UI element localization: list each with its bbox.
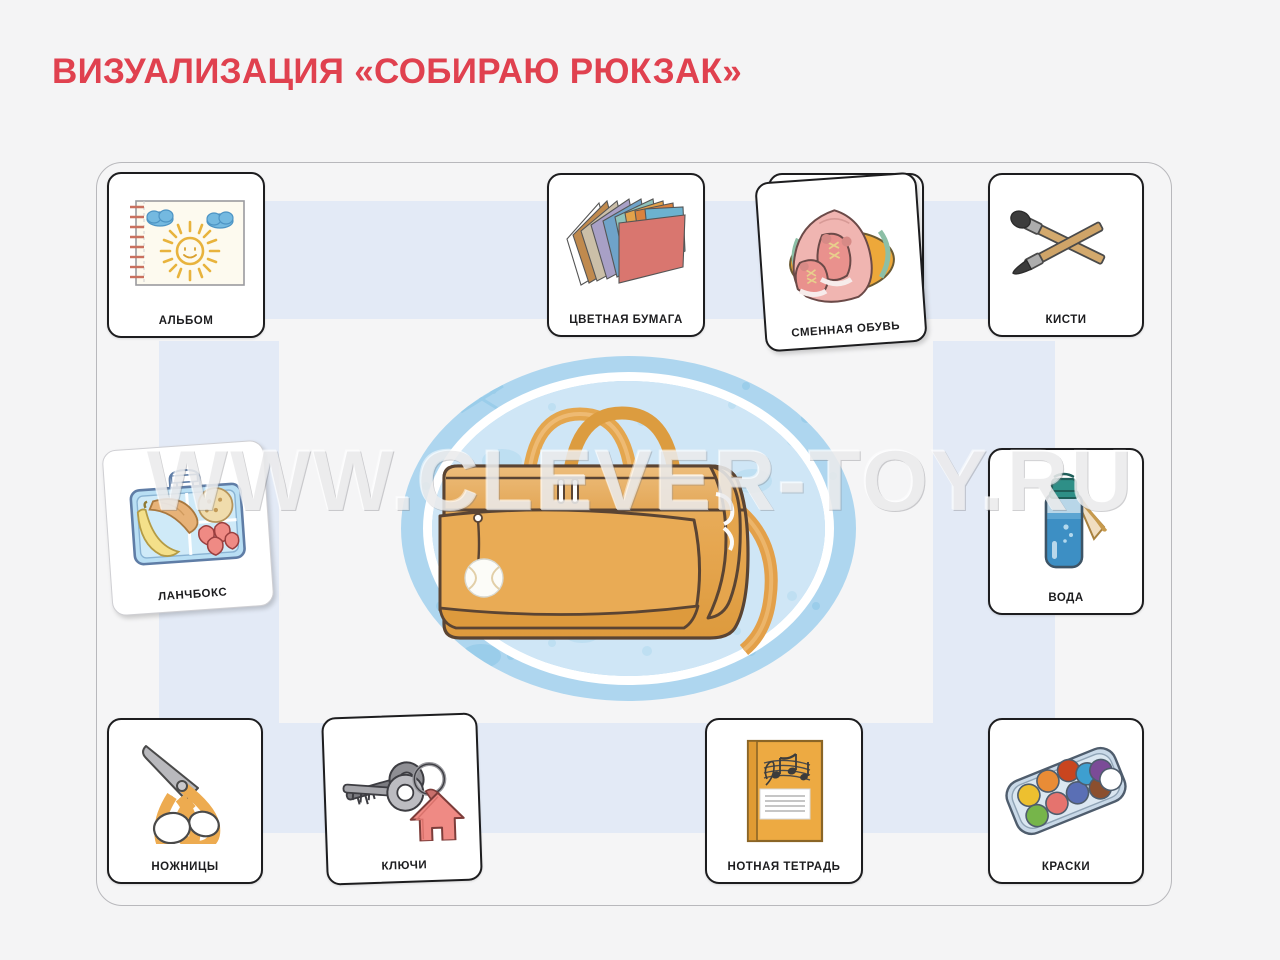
card-keys[interactable]: КЛЮЧИ [321,712,483,885]
card-water-art [990,450,1142,592]
card-album-label: АЛЬБОМ [159,315,214,336]
card-change-shoes[interactable]: СМЕННАЯ ОБУВЬ [754,172,927,353]
card-brushes-label: КИСТИ [1045,314,1086,335]
card-change-shoes-art [756,174,924,330]
sketchbook-sun-icon [122,195,250,295]
sneakers-bag-icon [768,195,913,308]
card-colored-paper[interactable]: ЦВЕТНАЯ БУМАГА [547,173,705,337]
card-album-art [109,174,263,315]
scissors-icon [124,738,246,844]
poster-canvas: ВИЗУАЛИЗАЦИЯ «СОБИРАЮ РЮКЗАК» [0,0,1280,960]
card-water[interactable]: ВОДА [988,448,1144,615]
card-scissors-art [109,720,261,861]
sports-duffel-bag-icon [416,386,836,676]
card-scissors-label: НОЖНИЦЫ [151,861,218,882]
page-title: ВИЗУАЛИЗАЦИЯ «СОБИРАЮ РЮКЗАК» [52,52,742,92]
keys-house-keychain-icon [336,733,468,843]
card-colored-paper-label: ЦВЕТНАЯ БУМАГА [569,314,683,335]
card-music-notebook-label: НОТНАЯ ТЕТРАДЬ [728,861,841,882]
music-notebook-icon [734,735,834,847]
card-lunchbox-label: ЛАНЧБОКС [158,586,228,612]
card-album[interactable]: АЛЬБОМ [107,172,265,338]
paint-brushes-icon [1004,194,1128,296]
colored-paper-icon [559,193,693,297]
card-music-notebook-art [707,720,861,861]
card-paints-art [990,720,1142,861]
card-paints[interactable]: КРАСКИ [988,718,1144,884]
card-lunchbox-art [102,441,272,595]
watercolor-palette-icon [1000,739,1132,843]
card-water-label: ВОДА [1048,592,1083,613]
lunchbox-icon [117,460,258,575]
water-bottle-icon [1008,467,1124,575]
card-brushes[interactable]: КИСТИ [988,173,1144,337]
card-music-notebook[interactable]: НОТНАЯ ТЕТРАДЬ [705,718,863,884]
card-paints-label: КРАСКИ [1042,861,1090,882]
card-scissors[interactable]: НОЖНИЦЫ [107,718,263,884]
card-brushes-art [990,175,1142,314]
card-lunchbox[interactable]: ЛАНЧБОКС [101,440,274,617]
card-keys-art [323,714,480,862]
items-board-panel: АЛЬБОМ [96,162,1172,906]
card-keys-label: КЛЮЧИ [381,859,427,882]
card-colored-paper-art [549,175,703,314]
